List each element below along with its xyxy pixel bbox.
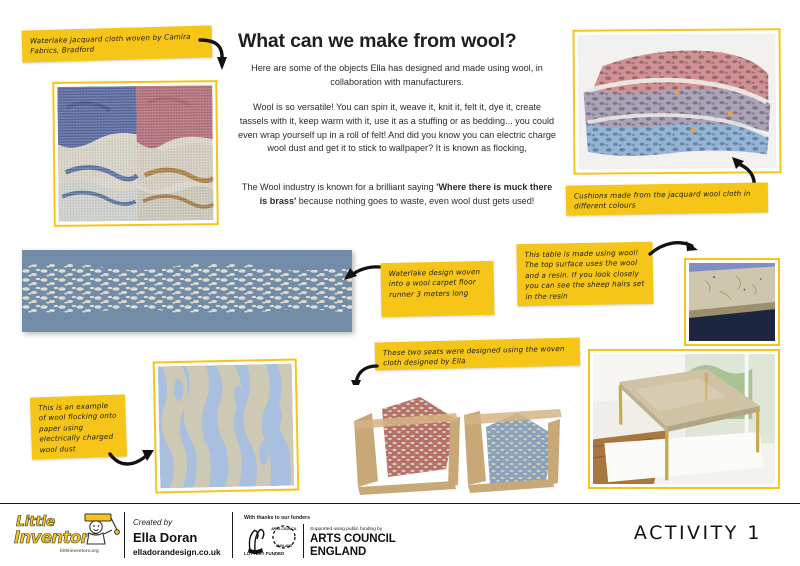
funders-label: With thanks to our funders: [244, 515, 310, 521]
paragraph-2-pre: The Wool industry is known for a brillia…: [242, 182, 436, 192]
note-flocking-text: This is an example of wool flocking onto…: [38, 401, 119, 456]
flocking-sample-image: [158, 364, 295, 489]
note-cushions-text: Cushions made from the jacquard wool clo…: [574, 189, 760, 213]
author-name: Ella Doran: [133, 530, 197, 545]
note-seats-text: These two seats were designed using the …: [383, 344, 572, 369]
photo-wool-resin-table: [588, 349, 780, 489]
worksheet-page: Waterlake jacquard cloth woven by Camira…: [0, 0, 800, 566]
note-jacquard: Waterlake jacquard cloth woven by Camira…: [22, 25, 213, 62]
note-table-text: This table is made using wool! The top s…: [525, 248, 646, 302]
page-footer: Little Inventors littleinventors.org Cre…: [0, 503, 800, 566]
svg-text:ARTS COUNCIL: ARTS COUNCIL: [271, 527, 297, 531]
note-carpet-runner: Waterlake design woven into a wool carpe…: [380, 261, 494, 317]
lottery-funded-label: LOTTERY FUNDED: [244, 551, 284, 556]
two-seats-image: [338, 385, 566, 497]
note-jacquard-text: Waterlake jacquard cloth woven by Camira…: [30, 32, 205, 58]
cushions-stack-image: [578, 33, 777, 169]
inventor-character-icon: [76, 512, 124, 546]
photo-jacquard-cloth: [52, 80, 219, 227]
ace-supported-label: Supported using public funding by: [310, 527, 382, 532]
body-paragraph-2: The Wool industry is known for a brillia…: [240, 181, 554, 209]
wool-resin-table-image: [593, 354, 775, 484]
little-inventors-logo: Little Inventors littleinventors.org: [14, 512, 126, 558]
crossed-fingers-icon: ARTS COUNCIL ENGLAND: [244, 524, 304, 554]
note-cushions: Cushions made from the jacquard wool clo…: [566, 182, 768, 215]
body-paragraph-1: Wool is so versatile! You can spin it, w…: [238, 101, 556, 156]
paragraph-2-post: because nothing goes to waste, even wool…: [296, 196, 534, 206]
carpet-runner-image: [22, 250, 352, 332]
ace-line-2: ENGLAND: [310, 546, 366, 558]
photo-table-corner: [684, 258, 780, 346]
photo-carpet-runner: [22, 250, 352, 332]
footer-divider-3: [303, 524, 304, 558]
lottery-funded-logo: ARTS COUNCIL ENGLAND LOTTERY FUNDED: [244, 524, 300, 558]
note-flocking: This is an example of wool flocking onto…: [30, 394, 127, 459]
ace-line-1: ARTS COUNCIL: [310, 533, 396, 545]
table-corner-image: [689, 263, 775, 341]
note-carpet-runner-text: Waterlake design woven into a wool carpe…: [389, 267, 487, 300]
logo-url: littleinventors.org: [60, 548, 99, 553]
footer-divider-1: [124, 512, 125, 558]
intro-paragraph: Here are some of the objects Ella has de…: [241, 62, 553, 89]
jacquard-cloth-image: [57, 85, 213, 222]
note-table: This table is made using wool! The top s…: [516, 242, 653, 307]
note-seats: These two seats were designed using the …: [375, 337, 581, 370]
svg-text:ENGLAND: ENGLAND: [276, 544, 292, 548]
photo-cushions-stack: [572, 28, 781, 174]
page-title: What can we make from wool?: [238, 30, 558, 53]
photo-two-seats: [338, 385, 566, 497]
photo-flocking-sample: [153, 359, 300, 494]
activity-label: ACTIVITY 1: [634, 522, 762, 544]
footer-divider-2: [232, 512, 233, 558]
created-by-label: Created by: [133, 518, 172, 527]
author-website[interactable]: elladorandesign.co.uk: [133, 547, 221, 557]
